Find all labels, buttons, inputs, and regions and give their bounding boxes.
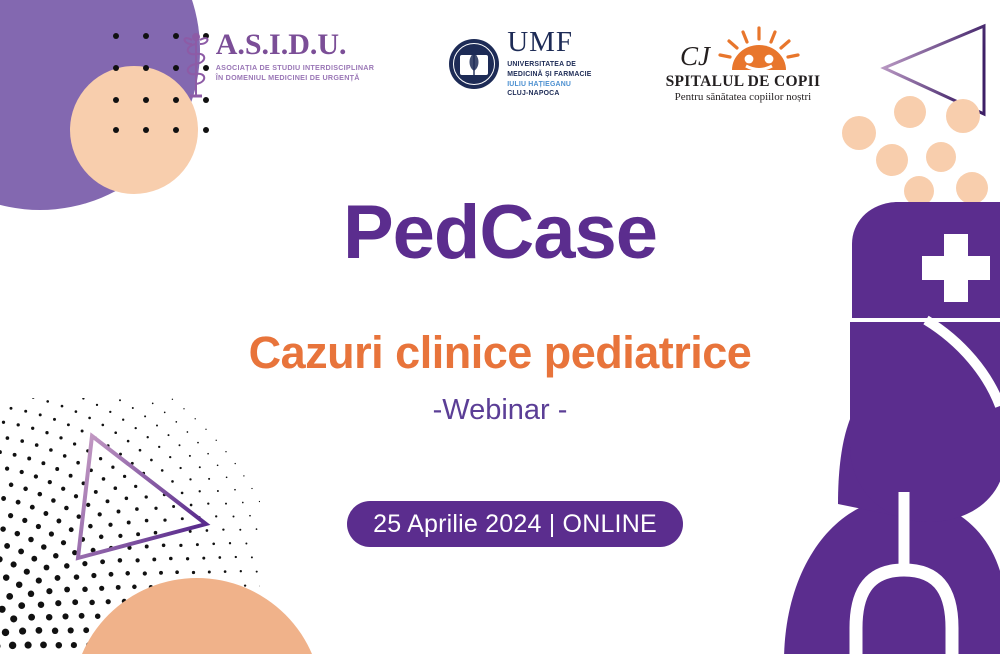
peach-circle-shape-bottom — [72, 578, 322, 654]
umf-line2: MEDICINĂ ȘI FARMACIE — [507, 70, 591, 80]
page-subtitle: Cazuri clinice pediatrice — [0, 330, 1000, 375]
date-badge: 25 Aprilie 2024 | ONLINE — [347, 501, 683, 547]
page-title: PedCase — [0, 195, 1000, 271]
umf-line1: UNIVERSITATEA DE — [507, 60, 591, 70]
caduceus-icon — [180, 30, 212, 102]
halftone-dots-shape — [0, 398, 260, 654]
logo-umf: UMF UNIVERSITATEA DE MEDICINĂ ȘI FARMACI… — [448, 26, 591, 99]
logo-cj: CJ SPITALUL — [666, 26, 821, 103]
asidu-name: A.S.I.D.U. — [216, 30, 374, 60]
cj-mark: CJ — [680, 43, 710, 72]
webinar-poster: A.S.I.D.U. ASOCIAȚIA DE STUDIU INTERDISC… — [0, 0, 1000, 654]
asidu-line1: ASOCIAȚIA DE STUDIU INTERDISCIPLINAR — [216, 63, 374, 73]
event-format: -Webinar - — [0, 396, 1000, 425]
logo-asidu: A.S.I.D.U. ASOCIAȚIA DE STUDIU INTERDISC… — [180, 26, 374, 102]
university-seal-icon — [448, 38, 500, 90]
cj-title: SPITALUL DE COPII — [666, 73, 821, 90]
logo-row: A.S.I.D.U. ASOCIAȚIA DE STUDIU INTERDISC… — [0, 26, 1000, 112]
triangle-outline-shape-bottom-left — [30, 428, 215, 568]
umf-line3: IULIU HAȚIEGANU — [507, 80, 591, 90]
asidu-line2: ÎN DOMENIUL MEDICINEI DE URGENȚĂ — [216, 73, 374, 83]
cj-tagline: Pentru sănătatea copiilor noștri — [675, 91, 812, 103]
umf-acronym: UMF — [507, 28, 591, 57]
umf-line4: CLUJ-NAPOCA — [507, 89, 591, 99]
smiling-sun-icon — [712, 26, 806, 72]
